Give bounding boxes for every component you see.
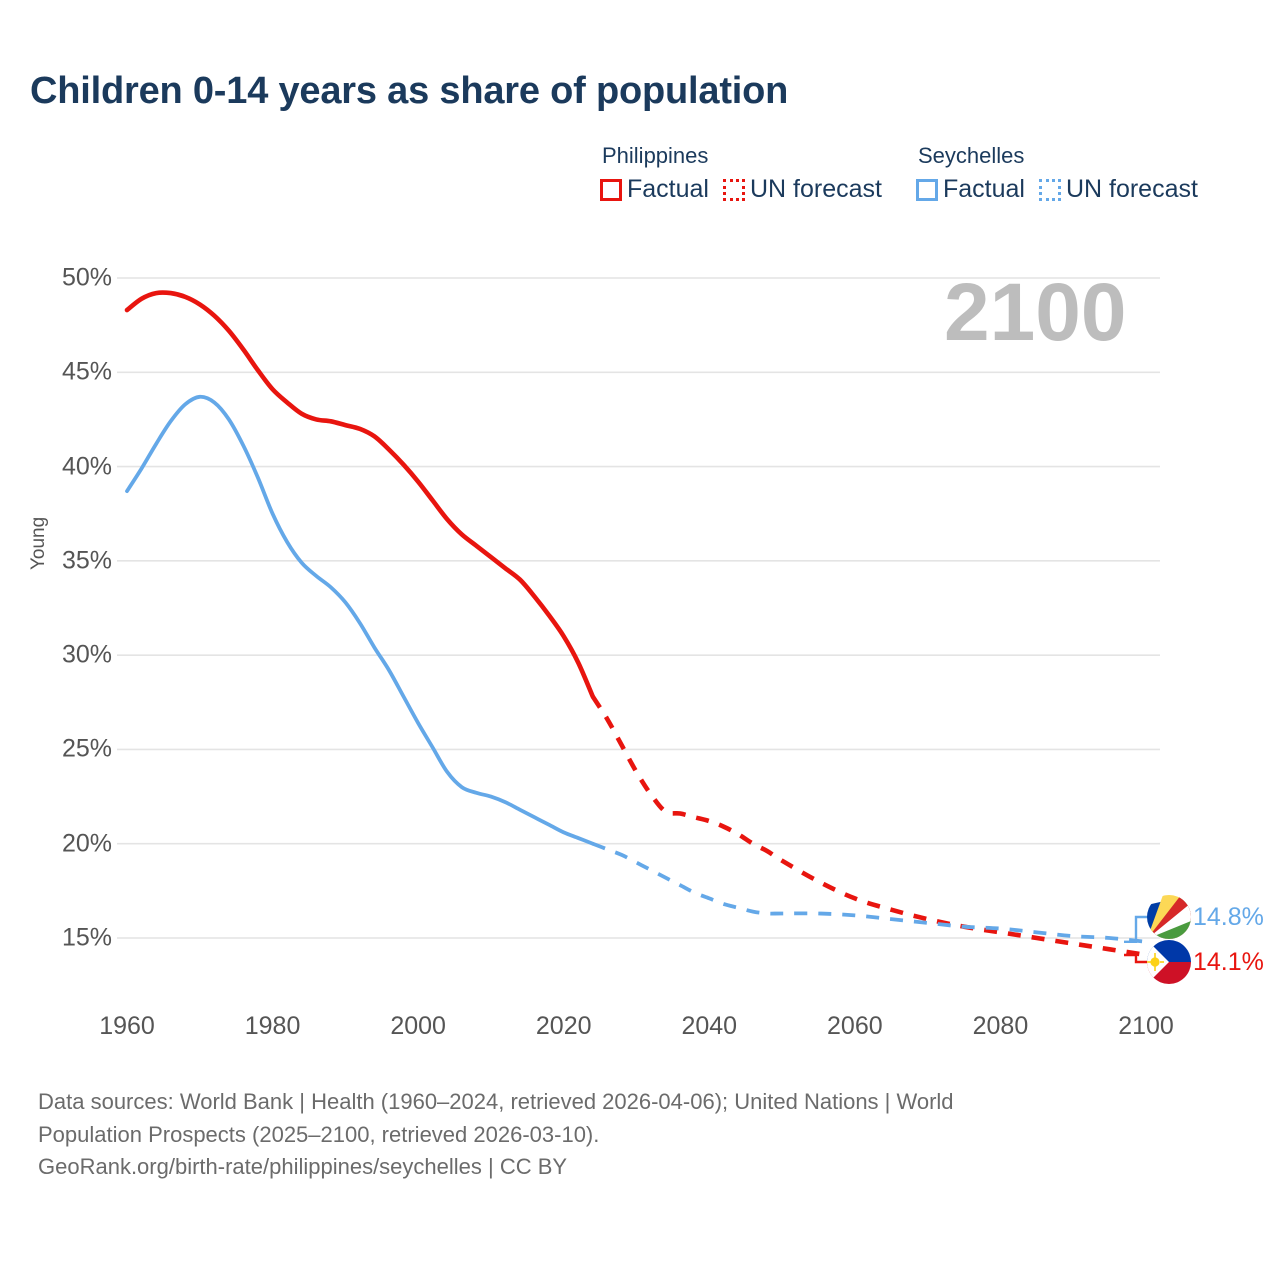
x-tick-2080: 2080 xyxy=(973,1012,1029,1041)
x-tick-2020: 2020 xyxy=(536,1012,592,1041)
y-tick-15: 15% xyxy=(62,924,112,953)
y-tick-45: 45% xyxy=(62,358,112,387)
y-axis-label: Young xyxy=(28,517,50,570)
footer-line-2: Population Prospects (2025–2100, retriev… xyxy=(38,1119,1218,1152)
y-tick-35: 35% xyxy=(62,546,112,575)
y-tick-25: 25% xyxy=(62,735,112,764)
y-tick-30: 30% xyxy=(62,641,112,670)
y-tick-50: 50% xyxy=(62,264,112,293)
x-tick-2040: 2040 xyxy=(681,1012,737,1041)
end-label-philippines: 14.1% xyxy=(1193,948,1264,977)
end-label-seychelles: 14.8% xyxy=(1193,903,1264,932)
x-tick-1980: 1980 xyxy=(245,1012,301,1041)
footer-line-1: Data sources: World Bank | Health (1960–… xyxy=(38,1086,1218,1119)
x-tick-1960: 1960 xyxy=(99,1012,155,1041)
seychelles-flag-icon xyxy=(1147,895,1191,939)
y-tick-20: 20% xyxy=(62,829,112,858)
x-tick-2060: 2060 xyxy=(827,1012,883,1041)
philippines-flag-icon xyxy=(1147,940,1191,984)
footer-line-3[interactable]: GeoRank.org/birth-rate/philippines/seych… xyxy=(38,1151,1218,1184)
x-tick-2000: 2000 xyxy=(390,1012,446,1041)
y-tick-40: 40% xyxy=(62,452,112,481)
x-tick-2100: 2100 xyxy=(1118,1012,1174,1041)
chart-footer: Data sources: World Bank | Health (1960–… xyxy=(38,1086,1218,1184)
